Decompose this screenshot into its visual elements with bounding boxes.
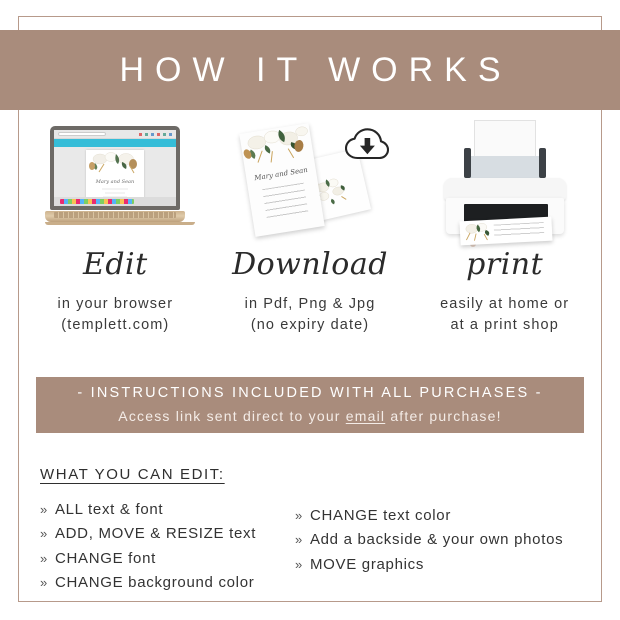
email-emphasis: email: [346, 408, 385, 424]
step-edit: Mary and Sean: [18, 118, 213, 358]
header-banner: HOW IT WORKS: [0, 30, 620, 110]
instructions-subline: Access link sent direct to your email af…: [118, 405, 501, 427]
bullet-icon: »: [295, 529, 303, 550]
bullet-icon: »: [40, 548, 48, 569]
list-item: » CHANGE font: [40, 547, 295, 571]
instructions-headline: - INSTRUCTIONS INCLUDED WITH ALL PURCHAS…: [77, 383, 542, 405]
printer-top-cover: [444, 178, 566, 200]
step-download-caption-line2: (no expiry date): [245, 315, 376, 336]
instructions-banner: - INSTRUCTIONS INCLUDED WITH ALL PURCHAS…: [36, 377, 584, 433]
step-edit-script-label: Edit: [83, 250, 148, 280]
step-print-script-label: print: [466, 250, 543, 280]
step-download-caption-line1: in Pdf, Png & Jpg: [245, 294, 376, 315]
step-print-art: [407, 118, 602, 246]
editor-canvas: Mary and Sean: [54, 147, 176, 197]
list-item: » ALL text & font: [40, 498, 295, 522]
printer-printed-sheet: [459, 217, 552, 246]
instructions-subline-after: after purchase!: [385, 408, 501, 424]
step-edit-caption-line1: in your browser: [58, 294, 174, 315]
step-download: Mary and Sean Download in Pdf, Png & Jpg: [213, 118, 408, 358]
bullet-icon: »: [40, 499, 48, 520]
list-item: » CHANGE text color: [295, 504, 585, 528]
printed-sheet-lines: [493, 222, 544, 239]
step-edit-caption-line2: (templett.com): [58, 315, 174, 336]
edit-list-left: » ALL text & font » ADD, MOVE & RESIZE t…: [40, 498, 295, 595]
step-download-caption: in Pdf, Png & Jpg (no expiry date): [245, 294, 376, 336]
edit-section-heading: WHAT YOU CAN EDIT:: [40, 466, 225, 483]
card-body-lines: [262, 183, 309, 223]
list-item-label: ADD, MOVE & RESIZE text: [55, 522, 256, 546]
laptop-lid: Mary and Sean: [50, 126, 180, 210]
printer-tray-guide-left: [464, 148, 471, 178]
step-download-script-label: Download: [232, 250, 388, 280]
edit-list-right: » CHANGE text color » Add a backside & y…: [295, 498, 585, 595]
cloud-download-icon: [345, 128, 389, 162]
list-item: » CHANGE background color: [40, 571, 295, 595]
bullet-icon: »: [295, 505, 303, 526]
list-item-label: CHANGE text color: [310, 504, 451, 528]
step-print-caption-line1: easily at home or: [440, 294, 569, 315]
step-print-caption-line2: at a print shop: [440, 315, 569, 336]
step-print: print easily at home or at a print shop: [407, 118, 602, 358]
printer-tray-guide-right: [539, 148, 546, 178]
laptop-front-edge: [45, 222, 195, 225]
bullet-icon: »: [40, 523, 48, 544]
step-edit-caption: in your browser (templett.com): [58, 294, 174, 336]
bullet-icon: »: [295, 554, 303, 575]
instructions-subline-before: Access link sent direct to your: [118, 408, 345, 424]
browser-url-bar: [54, 130, 176, 139]
step-edit-art: Mary and Sean: [18, 118, 213, 246]
list-item: » MOVE graphics: [295, 553, 585, 577]
list-item-label: ALL text & font: [55, 498, 163, 522]
page-title: HOW IT WORKS: [108, 53, 511, 87]
laptop-keys: [54, 212, 176, 218]
invitation-card-front: Mary and Sean: [239, 123, 324, 237]
list-item-label: Add a backside & your own photos: [310, 528, 563, 552]
step-print-caption: easily at home or at a print shop: [440, 294, 569, 336]
list-item-label: CHANGE font: [55, 547, 156, 571]
svg-text:Mary and Sean: Mary and Sean: [95, 179, 134, 185]
list-item: » ADD, MOVE & RESIZE text: [40, 522, 295, 546]
browser-dock: [54, 197, 176, 206]
laptop-keyboard-deck: [45, 211, 185, 222]
list-item-label: MOVE graphics: [310, 553, 424, 577]
step-download-art: Mary and Sean: [213, 118, 408, 246]
printed-floral-icon: [461, 222, 496, 246]
list-item-label: CHANGE background color: [55, 571, 255, 595]
how-it-works-infographic: HOW IT WORKS: [0, 0, 620, 620]
steps-row: Mary and Sean: [18, 118, 602, 358]
edit-section-columns: » ALL text & font » ADD, MOVE & RESIZE t…: [40, 498, 585, 595]
list-item: » Add a backside & your own photos: [295, 528, 585, 552]
laptop-screen: Mary and Sean: [54, 130, 176, 206]
printer-icon: [430, 120, 580, 248]
invitation-cards-download-icon: Mary and Sean: [235, 122, 385, 247]
laptop-icon: Mary and Sean: [45, 126, 185, 225]
bullet-icon: »: [40, 572, 48, 593]
